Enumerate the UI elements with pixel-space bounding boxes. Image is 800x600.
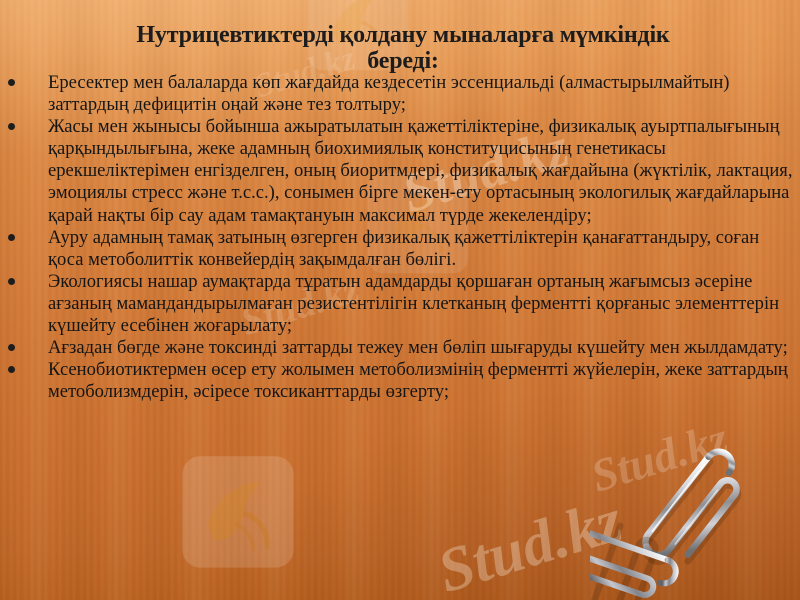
list-item: Ағзадан бөгде және токсинді заттарды теж… (0, 337, 800, 359)
slide-content: Нутрицевтиктерді қолдану мыналарға мүмкі… (0, 0, 800, 600)
list-item-text: Экологиясы нашар аумақтарда тұратын адам… (48, 271, 794, 337)
list-item-text: Ауру адамның тамақ затының өзгерген физи… (48, 227, 794, 271)
slide-canvas: Stud.kz Stud.kz Stud.kz Stud.kz Stud.kz … (0, 0, 800, 600)
list-item-text: Ксенобиотиктермен өсер ету жолымен метоб… (48, 359, 794, 403)
bullet-dot-icon (8, 366, 15, 373)
list-item: Экологиясы нашар аумақтарда тұратын адам… (0, 271, 800, 337)
list-item: Жасы мен жынысы бойынша ажыратылатын қаж… (0, 116, 800, 226)
list-item: Ксенобиотиктермен өсер ету жолымен метоб… (0, 359, 800, 403)
list-item-text: Жасы мен жынысы бойынша ажыратылатын қаж… (48, 116, 794, 226)
slide-title: Нутрицевтиктерді қолдану мыналарға мүмкі… (118, 22, 688, 74)
bullet-dot-icon (8, 234, 15, 241)
bullet-dot-icon (8, 344, 15, 351)
list-item: Ересектер мен балаларда көп жағдайда кез… (0, 72, 800, 116)
list-item-text: Ағзадан бөгде және токсинді заттарды теж… (48, 337, 794, 359)
list-item-text: Ересектер мен балаларда көп жағдайда кез… (48, 72, 794, 116)
bullet-list: Ересектер мен балаларда көп жағдайда кез… (0, 72, 800, 403)
bullet-dot-icon (8, 278, 15, 285)
bullet-dot-icon (8, 123, 15, 130)
list-item: Ауру адамның тамақ затының өзгерген физи… (0, 227, 800, 271)
bullet-dot-icon (8, 79, 15, 86)
